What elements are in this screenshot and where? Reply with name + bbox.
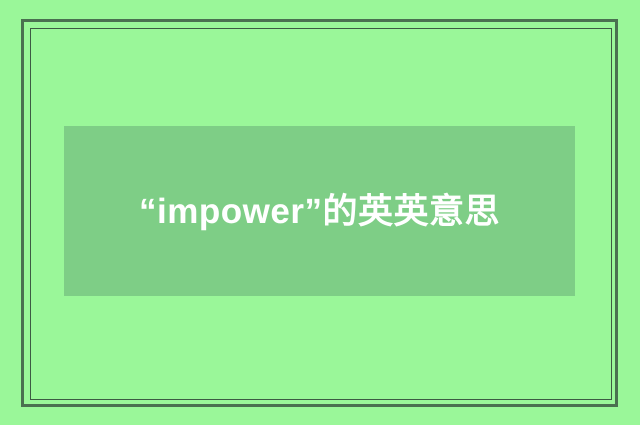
caption-overlay-band: “impower”的英英意思 — [64, 126, 575, 296]
image-canvas: “impower”的英英意思 — [0, 0, 640, 425]
caption-title: “impower”的英英意思 — [102, 183, 537, 240]
